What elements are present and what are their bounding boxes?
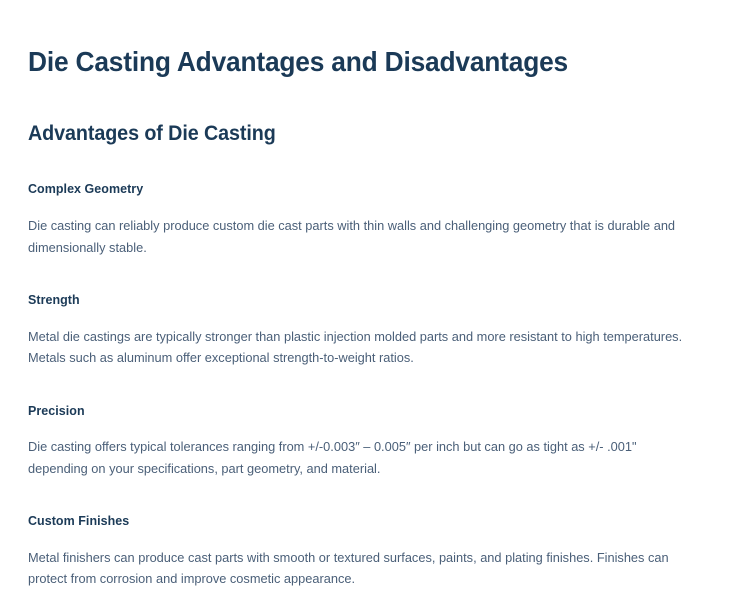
topic-heading-custom-finishes: Custom Finishes	[28, 513, 687, 530]
topic-body-custom-finishes: Metal finishers can produce cast parts w…	[28, 547, 693, 590]
page-title: Die Casting Advantages and Disadvantages	[28, 44, 673, 79]
topic-body-precision: Die casting offers typical tolerances ra…	[28, 436, 693, 479]
topic-heading-strength: Strength	[28, 292, 687, 309]
topic-block: Complex Geometry Die casting can reliabl…	[28, 181, 714, 258]
section-heading-advantages: Advantages of Die Casting	[28, 121, 673, 147]
topic-block: Precision Die casting offers typical tol…	[28, 403, 714, 480]
topic-block: Strength Metal die castings are typicall…	[28, 292, 714, 369]
topic-block: Custom Finishes Metal finishers can prod…	[28, 513, 714, 590]
topic-body-complex-geometry: Die casting can reliably produce custom …	[28, 215, 693, 258]
topic-heading-complex-geometry: Complex Geometry	[28, 181, 687, 198]
topic-heading-precision: Precision	[28, 403, 687, 420]
topic-body-strength: Metal die castings are typically stronge…	[28, 326, 693, 369]
article-content: Die Casting Advantages and Disadvantages…	[0, 0, 750, 590]
